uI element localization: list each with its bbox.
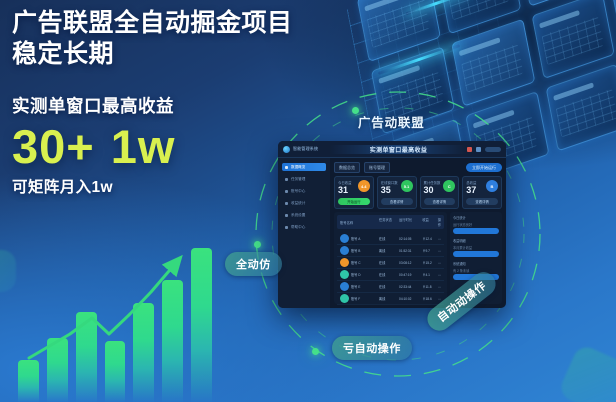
cell-name-text: 账号 B [351,248,360,253]
col-status: 任务状态 [379,217,396,227]
table-row[interactable]: 账号 B离线01:52:31￥9.7⋯ [337,245,444,257]
avatar [340,258,349,267]
table-row[interactable]: 账号 A在线02:14:05￥12.4⋯ [337,233,444,245]
chart-bars [12,242,218,402]
cell-actions[interactable]: ⋯ [438,285,441,289]
cell-duration: 02:14:05 [399,237,419,241]
big-number-right: 1w [111,120,176,173]
cell-duration: 03:08:12 [399,261,419,265]
orbit-node-left [254,241,261,248]
cell-name: 账号 F [340,294,376,303]
avatar [340,234,349,243]
info-block-button[interactable] [453,228,499,234]
chart-bar [191,248,212,402]
cell-duration: 00:47:19 [399,273,419,277]
stat-card-button[interactable]: 查看详情 [466,198,498,205]
cell-income: ￥4.1 [422,272,434,277]
sidebar-item-icon [285,202,288,205]
table-row[interactable]: 账号 E在线02:33:44￥11.8⋯ [337,281,444,293]
cell-income: ￥18.6 [422,296,434,301]
cell-name-text: 账号 A [351,236,360,241]
stat-card-badge: 5.1 [401,180,413,192]
stat-card-button[interactable]: 开始运行 [338,198,370,205]
cell-duration: 01:52:31 [399,249,419,253]
sidebar-item-3[interactable]: 收益统计 [282,199,326,207]
cell-income: ￥15.2 [422,260,434,265]
cell-status: 在线 [379,260,396,265]
info-block-1: 收益明细本月累计收益 [453,238,499,257]
start-run-button[interactable]: 立即开始运行 [466,163,502,172]
col-income: 收益 [422,217,434,227]
stat-card-3[interactable]: 总收益37B查看详情 [462,176,502,209]
col-name: 账号名称 [340,217,376,227]
close-icon[interactable] [467,147,472,152]
cell-name: 账号 B [340,246,376,255]
sidebar-item-icon [285,226,288,229]
cell-status: 在线 [379,236,396,241]
chart-bar [76,312,97,402]
stat-card-badge: C [443,180,455,192]
info-block-button[interactable] [453,251,499,257]
cell-name: 账号 E [340,282,376,291]
chart-bar [133,303,154,402]
big-number-row: 30+1w [12,122,384,171]
cell-income: ￥11.8 [422,284,434,289]
table-row[interactable]: 账号 F离线04:10:02￥18.6⋯ [337,293,444,305]
cell-name: 账号 D [340,270,376,279]
avatar [340,282,349,291]
stat-card-text: 总收益37 [466,180,476,195]
chart-bar [162,280,183,402]
decorative-panel [545,64,616,152]
cell-status: 离线 [379,248,396,253]
stat-card-top: 累计任务数30C [424,180,456,195]
info-block-label: 今日统计 [453,215,499,220]
stat-card-button[interactable]: 查看详情 [424,198,456,205]
avatar [340,246,349,255]
cell-name: 账号 C [340,258,376,267]
table-row[interactable]: 账号 C在线03:08:12￥15.2⋯ [337,257,444,269]
cell-actions[interactable]: ⋯ [438,261,441,265]
sidebar-item-5[interactable]: 帮助中心 [282,223,326,231]
avatar [340,294,349,303]
sidebar-item-label: 系统设置 [291,213,305,218]
info-block-sub: 有 2 条未读 [453,268,499,273]
orbit-node-bottom [312,348,319,355]
orbit-label-full-auto: 全动仿 [225,252,282,276]
headline-line-2: 稳定长期 [12,39,384,70]
avatar [340,270,349,279]
gear-icon[interactable] [476,147,481,152]
stat-card-text: 累计任务数30 [424,180,441,195]
cell-name-text: 账号 E [351,284,360,289]
stat-card-top: 总收益37B [466,180,498,195]
info-block-0: 今日统计运行状态良好 [453,215,499,234]
stat-card-button[interactable]: 查看详情 [381,198,413,205]
big-number-left: 30+ [12,120,95,173]
promo-poster: 广告联盟全自动掘金项目 稳定长期 实测单窗口最高收益 30+1w 可矩阵月入1w… [0,0,616,402]
orbit-label-ad-alliance: 广告动联盟 [358,112,425,131]
cell-actions[interactable]: ⋯ [438,297,441,301]
table-header-row: 账号名称 任务状态 运行时长 收益 操作 [337,215,444,229]
cell-status: 离线 [379,296,396,301]
stat-card-top: 在线窗口数355.1 [381,180,413,195]
chart-bar [105,341,126,402]
cell-actions[interactable]: ⋯ [438,273,441,277]
cell-actions[interactable]: ⋯ [438,249,441,253]
info-block-sub: 运行状态良好 [453,222,499,227]
sub-headline: 实测单窗口最高收益 [12,93,384,118]
chart-bar [47,338,68,402]
headline-block: 广告联盟全自动掘金项目 稳定长期 实测单窗口最高收益 30+1w 可矩阵月入1w [12,8,384,197]
info-block-sub: 本月累计收益 [453,245,499,250]
chart-bar [18,360,39,402]
info-block-label: 系统通知 [453,261,499,266]
sidebar-item-label: 帮助中心 [291,225,305,230]
tagline: 可矩阵月入1w [12,175,384,197]
growth-bar-chart [12,242,218,402]
stat-card-2[interactable]: 累计任务数30C查看详情 [420,176,460,209]
headline-line-1: 广告联盟全自动掘金项目 [12,8,384,39]
cell-income: ￥12.4 [422,236,434,241]
sidebar-item-icon [285,214,288,217]
cell-income: ￥9.7 [422,248,434,253]
decorative-glow-shape [557,343,616,402]
stat-card-badge: B [486,180,498,192]
sidebar-item-label: 收益统计 [291,201,305,206]
task-table[interactable]: 账号名称 任务状态 运行时长 收益 操作 账号 A在线02:14:05￥12.4… [334,212,447,304]
dashboard-toolbar[interactable] [467,147,506,152]
table-rows: 账号 A在线02:14:05￥12.4⋯账号 B离线01:52:31￥9.7⋯账… [337,233,444,305]
user-avatar[interactable] [485,147,501,152]
table-row[interactable]: 账号 D在线00:47:19￥4.1⋯ [337,269,444,281]
cell-status: 在线 [379,272,396,277]
col-duration: 运行时长 [399,217,419,227]
cell-name-text: 账号 C [351,260,361,265]
cell-name-text: 账号 F [351,296,360,301]
info-block-label: 收益明细 [453,238,499,243]
cell-actions[interactable]: ⋯ [438,237,441,241]
cell-name: 账号 A [340,234,376,243]
stat-card-value: 30 [424,186,441,195]
col-actions: 操作 [438,217,441,227]
cell-duration: 04:10:02 [399,297,419,301]
orbit-label-auto-operate-bottom: 亏自动操作 [332,336,412,360]
cell-status: 在线 [379,284,396,289]
stat-card-value: 37 [466,186,476,195]
cell-duration: 02:33:44 [399,285,419,289]
cell-name-text: 账号 D [351,272,361,277]
sidebar-item-4[interactable]: 系统设置 [282,211,326,219]
